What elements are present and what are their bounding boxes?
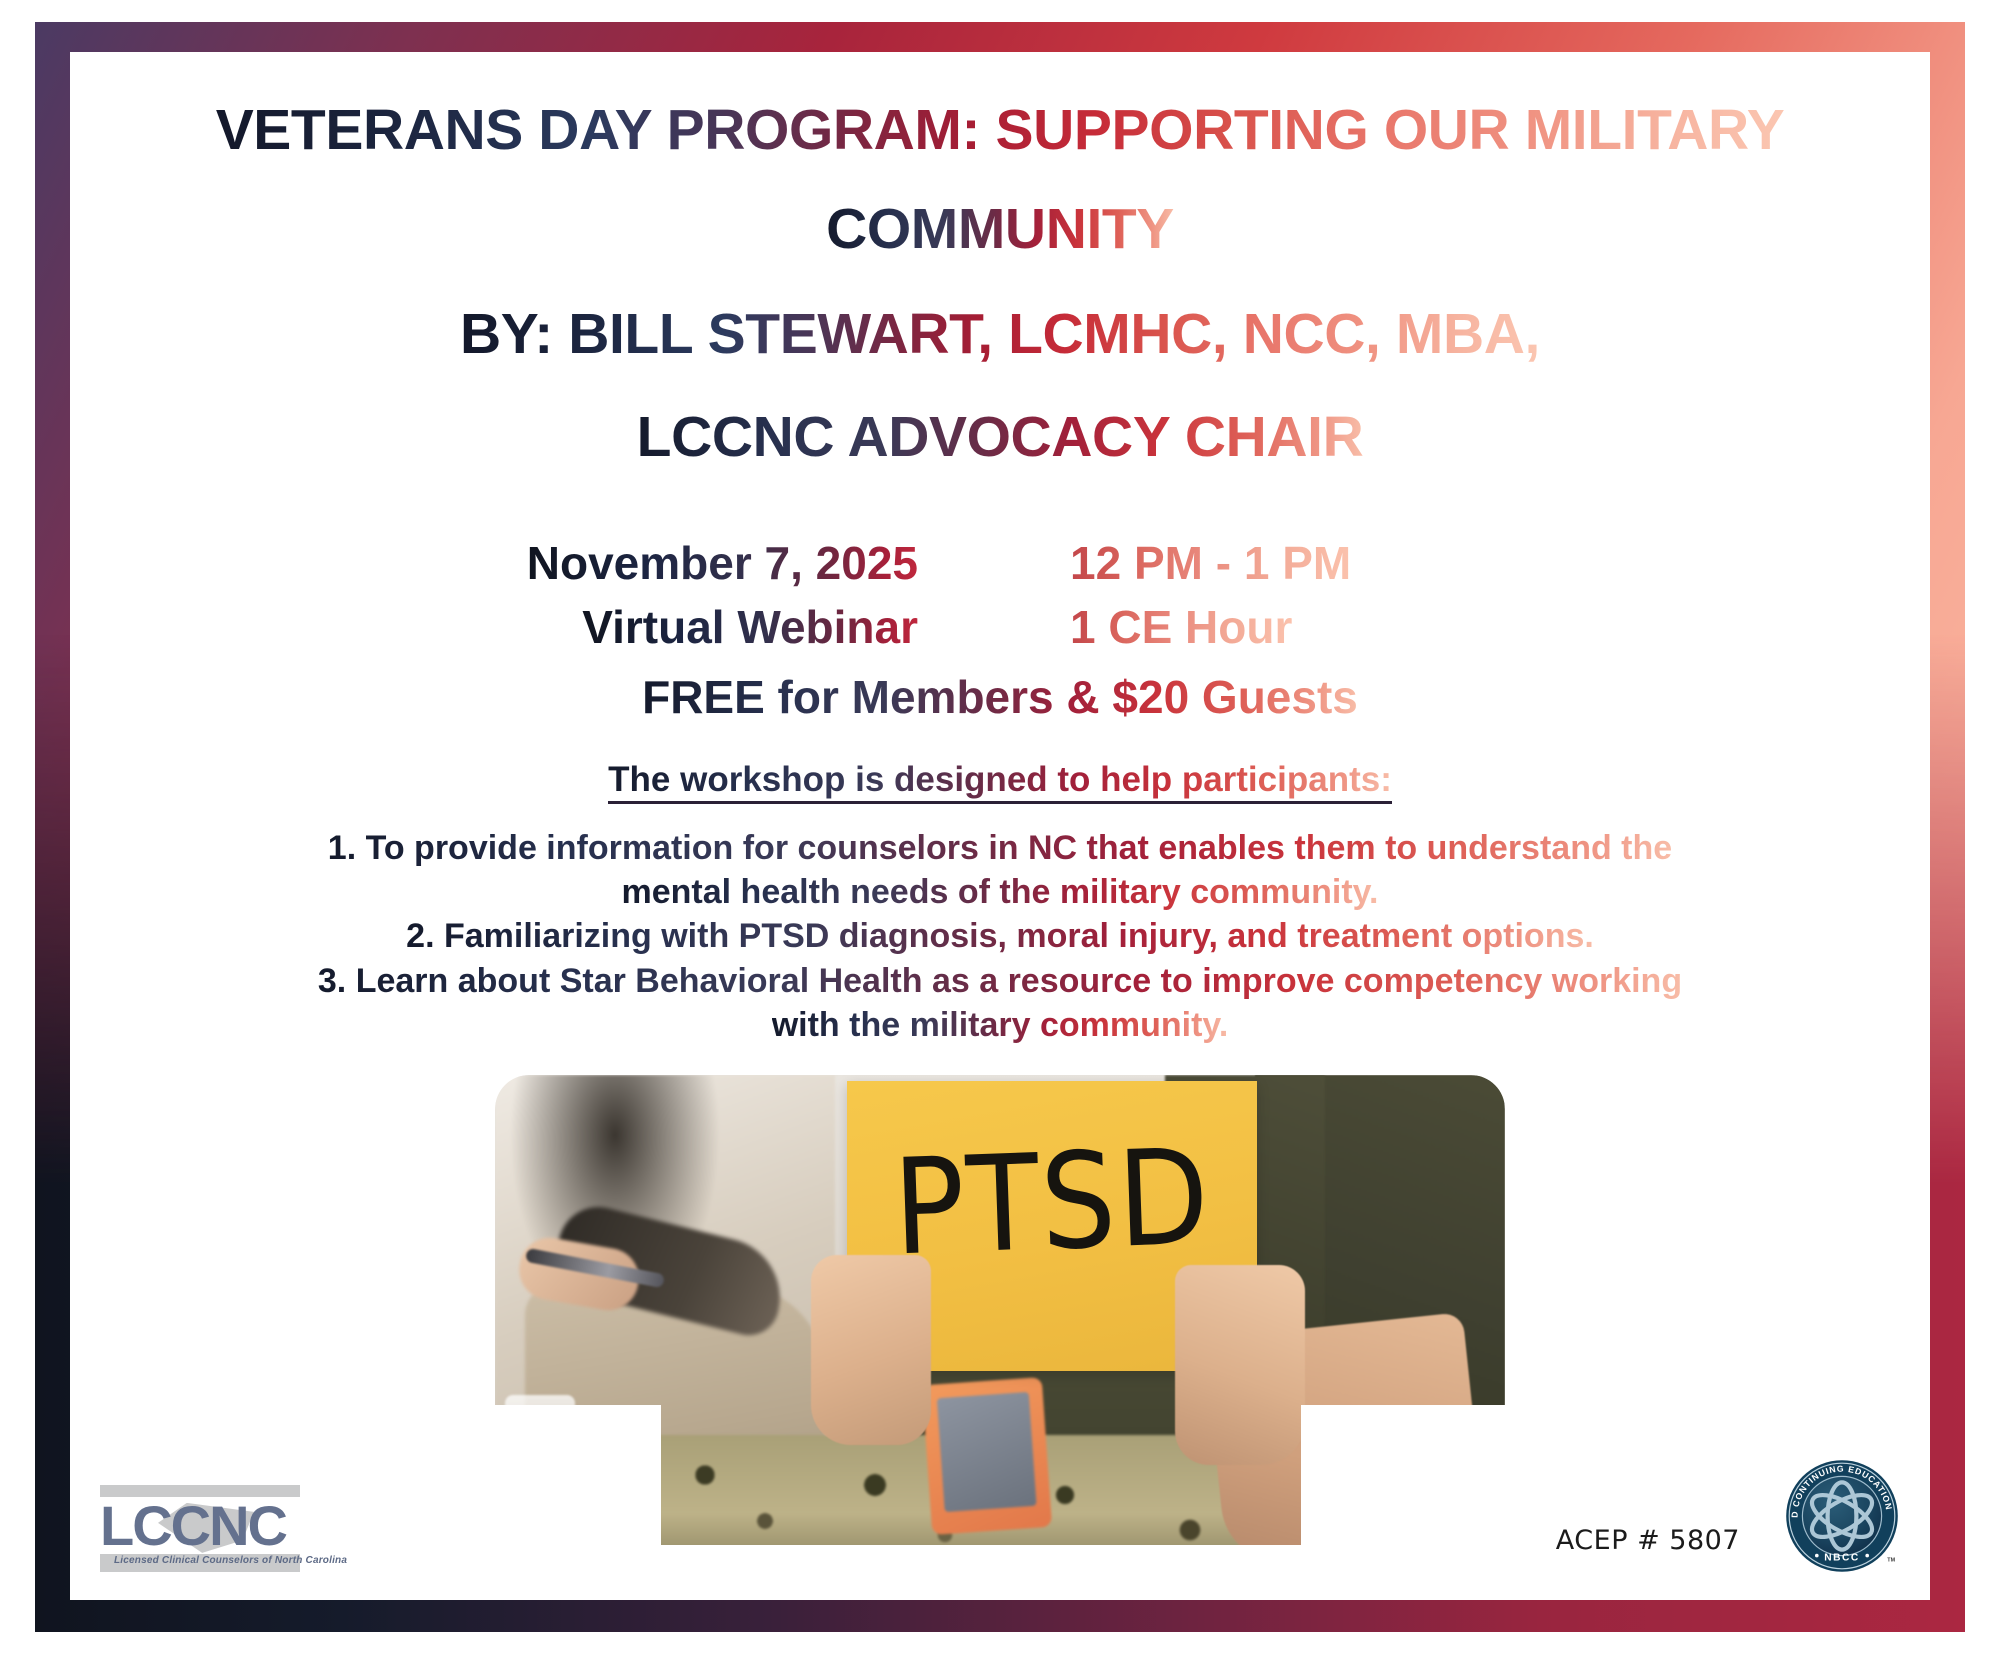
flyer-canvas: VETERANS DAY PROGRAM: SUPPORTING OUR MIL… (0, 0, 2000, 1667)
lccnc-logo-tagline: Licensed Clinical Counselors of North Ca… (114, 1555, 300, 1566)
objective-line: 1. To provide information for counselors… (104, 826, 1896, 870)
event-credit: 1 CE Hour (1000, 600, 1930, 654)
photo-right-holding-hand (1175, 1265, 1305, 1465)
title-line-3-text: BY: BILL STEWART, LCMHC, NCC, MBA, (460, 306, 1540, 363)
event-time: 12 PM - 1 PM (1000, 536, 1930, 590)
nbcc-trademark: TM (1887, 1558, 1895, 1564)
page-title-line-1: VETERANS DAY PROGRAM: SUPPORTING OUR MIL… (70, 52, 1930, 159)
title-line-1-text: VETERANS DAY PROGRAM: SUPPORTING OUR MIL… (216, 102, 1785, 159)
title-line-4-text: LCCNC ADVOCACY CHAIR (637, 409, 1364, 466)
page-title-line-2: COMMUNITY (70, 159, 1930, 258)
event-details: November 7, 2025 12 PM - 1 PM Virtual We… (70, 536, 1930, 724)
objective-line-text: 3. Learn about Star Behavioral Health as… (318, 959, 1682, 1003)
nbcc-seal-icon: APPROVED CONTINUING EDUCATION PROVIDER N… (1782, 1456, 1902, 1576)
objective-line-text: with the military community. (772, 1003, 1229, 1047)
objective-line: mental health needs of the military comm… (104, 870, 1896, 914)
lccnc-logo-bottom-bar: Licensed Clinical Counselors of North Ca… (100, 1554, 300, 1572)
event-credit-text: 1 CE Hour (1070, 600, 1292, 654)
nbcc-label: NBCC (1824, 1552, 1859, 1563)
objective-line-text: 2. Familiarizing with PTSD diagnosis, mo… (406, 914, 1594, 958)
objective-line: with the military community. (104, 1003, 1896, 1047)
workshop-heading: The workshop is designed to help partici… (70, 760, 1930, 804)
event-format: Virtual Webinar (70, 600, 1000, 654)
workshop-heading-text: The workshop is designed to help partici… (608, 760, 1392, 804)
acep-number: ACEP # 5807 (1556, 1525, 1740, 1556)
event-date-text: November 7, 2025 (527, 536, 918, 590)
lccnc-logo-acronym: LCCNC (100, 1497, 300, 1554)
objective-line: 3. Learn about Star Behavioral Health as… (104, 959, 1896, 1003)
objective-line: 2. Familiarizing with PTSD diagnosis, mo… (104, 914, 1896, 958)
objective-line-text: 1. To provide information for counselors… (328, 826, 1672, 870)
footer: LCCNC Licensed Clinical Counselors of No… (70, 1458, 1930, 1578)
event-date: November 7, 2025 (70, 536, 1000, 590)
lccnc-logo: LCCNC Licensed Clinical Counselors of No… (100, 1485, 300, 1572)
photo-left-holding-hand (811, 1255, 931, 1445)
objectives-list: 1. To provide information for counselors… (70, 826, 1930, 1047)
event-pricing-text: FREE for Members & $20 Guests (642, 670, 1358, 724)
event-pricing: FREE for Members & $20 Guests (70, 664, 1930, 724)
page-title-line-3: BY: BILL STEWART, LCMHC, NCC, MBA, (70, 258, 1930, 363)
event-format-text: Virtual Webinar (582, 600, 918, 654)
flyer-content: VETERANS DAY PROGRAM: SUPPORTING OUR MIL… (70, 52, 1930, 1600)
page-title-line-4: LCCNC ADVOCACY CHAIR (70, 363, 1930, 466)
event-time-text: 12 PM - 1 PM (1070, 536, 1351, 590)
title-line-2-text: COMMUNITY (826, 201, 1174, 258)
objective-line-text: mental health needs of the military comm… (622, 870, 1379, 914)
